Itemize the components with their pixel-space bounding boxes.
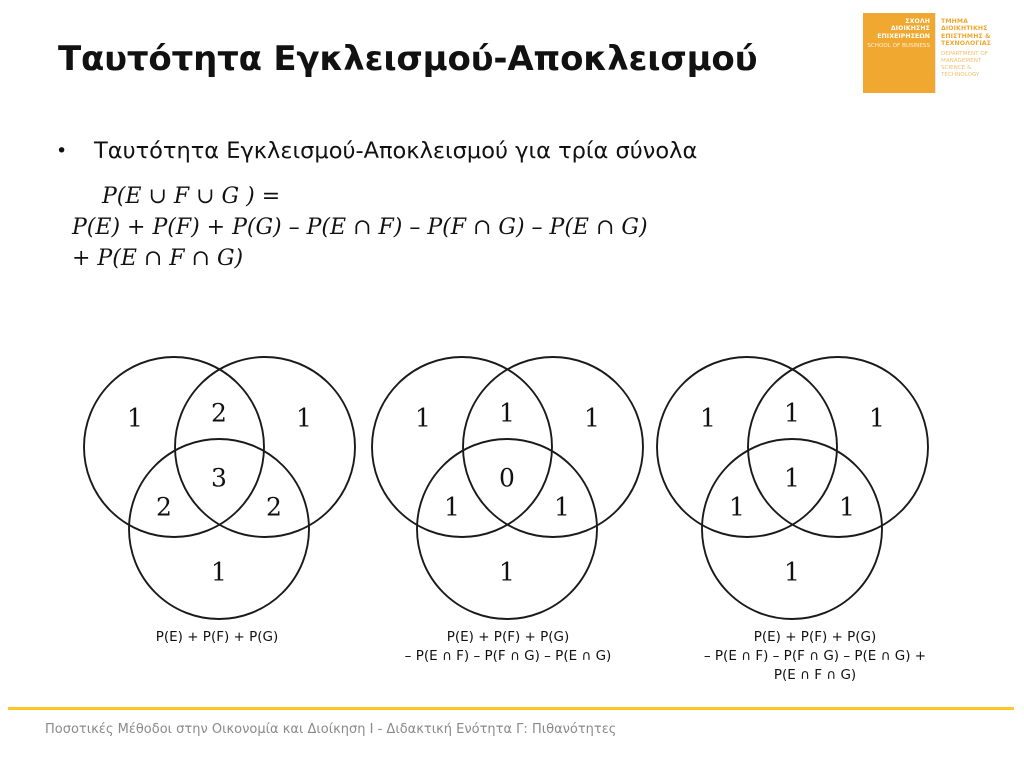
logo-department-block: ΤΜΗΜΑ ΔΙΟΙΚΗΤΙΚΗΣ ΕΠΙΣΤΗΜΗΣ & ΤΕΧΝΟΛΟΓΙΑ… [935, 13, 1008, 93]
formula-line-1: P(E ∪ F ∪ G ) = [72, 181, 932, 212]
venn-3-region-f-only: 1 [869, 404, 885, 433]
venn-1-caption-line-1: P(E) + P(F) + P(G) [47, 628, 387, 647]
venn-1-region-e-only: 1 [127, 404, 143, 433]
venn-1-region-fg: 2 [266, 493, 282, 522]
venn-2-region-f-only: 1 [584, 404, 600, 433]
venn-2-region-fg: 1 [554, 493, 570, 522]
institution-logo: ΣΧΟΛΗ ΔΙΟΙΚΗΣΗΣ ΕΠΙΧΕΙΡΗΣΕΩΝ SCHOOL OF B… [863, 13, 1008, 93]
venn-3-caption-line-3: P(E ∩ F ∩ G) [640, 666, 990, 685]
venn-3-region-e-only: 1 [700, 404, 716, 433]
bullet-item: • Ταυτότητα Εγκλεισμού-Αποκλεισμού για τ… [56, 136, 856, 166]
logo-school-english: SCHOOL OF BUSINESS [867, 43, 930, 50]
logo-department-greek: ΤΜΗΜΑ ΔΙΟΙΚΗΤΙΚΗΣ ΕΠΙΣΤΗΜΗΣ & ΤΕΧΝΟΛΟΓΙΑ… [941, 18, 1005, 48]
venn-2-region-eg: 1 [444, 493, 460, 522]
venn-2-caption-line-2: – P(E ∩ F) – P(F ∩ G) – P(E ∩ G) [348, 647, 668, 666]
venn-3-region-eg: 1 [729, 493, 745, 522]
inclusion-exclusion-formula: P(E ∪ F ∪ G ) = P(E) + P(F) + P(G) – P(E… [72, 181, 932, 274]
venn-diagram-3-svg: 1 1 1 1 1 1 1 [645, 352, 935, 642]
venn-diagram-2-svg: 1 1 1 1 0 1 1 [360, 352, 650, 642]
venn-2-region-g-only: 1 [499, 558, 515, 587]
venn-2-circle-e [372, 357, 552, 537]
venn-3-caption: P(E) + P(F) + P(G) – P(E ∩ F) – P(F ∩ G)… [640, 628, 990, 685]
bullet-item-label: Ταυτότητα Εγκλεισμού-Αποκλεισμού για τρί… [94, 136, 697, 166]
venn-1-circle-e [84, 357, 264, 537]
venn-1-region-f-only: 1 [296, 404, 312, 433]
venn-3-caption-line-1: P(E) + P(F) + P(G) [640, 628, 990, 647]
venn-2-region-efg: 0 [499, 464, 515, 493]
venn-3-circle-f [748, 357, 928, 537]
venn-1-region-g-only: 1 [211, 558, 227, 587]
formula-line-2: P(E) + P(F) + P(G) – P(E ∩ F) – P(F ∩ G)… [72, 212, 932, 243]
venn-diagram-2: 1 1 1 1 0 1 1 [360, 352, 650, 642]
footer-divider [8, 707, 1014, 710]
formula-line-3: + P(E ∩ F ∩ G) [72, 243, 932, 274]
venn-3-region-fg: 1 [839, 493, 855, 522]
venn-3-circle-e [657, 357, 837, 537]
venn-2-region-ef: 1 [499, 399, 515, 428]
venn-2-caption: P(E) + P(F) + P(G) – P(E ∩ F) – P(F ∩ G)… [348, 628, 668, 666]
bullet-marker-icon: • [56, 136, 94, 166]
logo-school-block: ΣΧΟΛΗ ΔΙΟΙΚΗΣΗΣ ΕΠΙΧΕΙΡΗΣΕΩΝ SCHOOL OF B… [863, 13, 935, 93]
venn-2-region-e-only: 1 [415, 404, 431, 433]
page-title: Ταυτότητα Εγκλεισμού-Αποκλεισμού [58, 38, 848, 80]
venn-3-caption-line-2: – P(E ∩ F) – P(F ∩ G) – P(E ∩ G) + [640, 647, 990, 666]
venn-1-region-ef: 2 [211, 399, 227, 428]
venn-1-caption: P(E) + P(F) + P(G) [47, 628, 387, 647]
venn-diagram-3: 1 1 1 1 1 1 1 [645, 352, 935, 642]
venn-1-region-efg: 3 [211, 464, 227, 493]
venn-3-region-g-only: 1 [784, 558, 800, 587]
footer-label: Ποσοτικές Μέθοδοι στην Οικονομία και Διο… [45, 721, 616, 739]
venn-2-circle-f [463, 357, 643, 537]
venn-diagram-1-svg: 1 2 1 2 3 2 1 [72, 352, 362, 642]
venn-3-region-efg: 1 [784, 464, 800, 493]
venn-1-circle-f [175, 357, 355, 537]
venn-diagram-1: 1 2 1 2 3 2 1 [72, 352, 362, 642]
venn-1-region-eg: 2 [156, 493, 172, 522]
logo-school-greek: ΣΧΟΛΗ ΔΙΟΙΚΗΣΗΣ ΕΠΙΧΕΙΡΗΣΕΩΝ [867, 18, 930, 40]
venn-3-region-ef: 1 [784, 399, 800, 428]
venn-2-caption-line-1: P(E) + P(F) + P(G) [348, 628, 668, 647]
logo-department-english: DEPARTMENT OF MANAGEMENT SCIENCE & TECHN… [941, 51, 1005, 79]
